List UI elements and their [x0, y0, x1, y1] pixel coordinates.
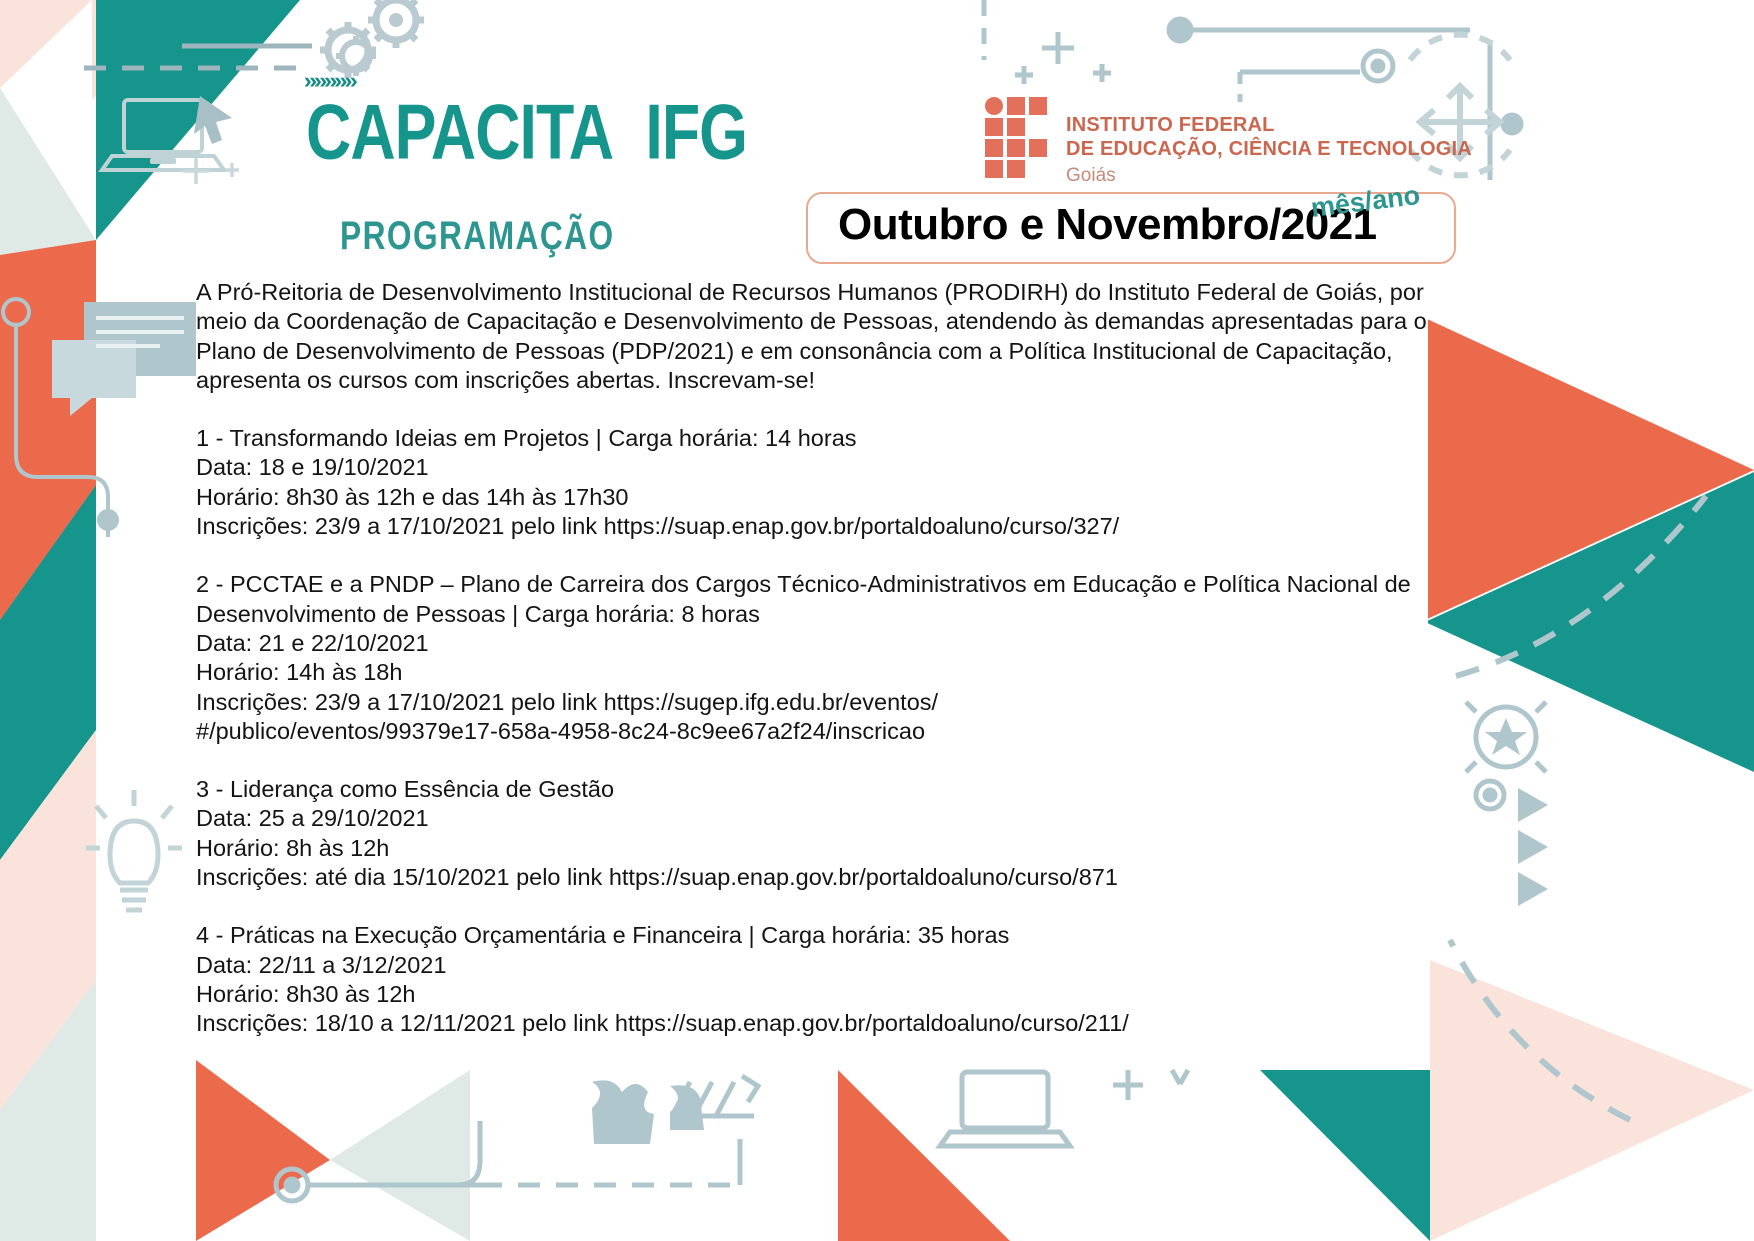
bottom-triangle-pattern — [196, 1060, 1600, 1241]
ifg-institutional-logo: INSTITUTO FEDERAL DE EDUCAÇÃO, CIÊNCIA E… — [985, 97, 1425, 187]
course-item: 3 - Liderança como Essência de Gestão Da… — [196, 775, 1442, 892]
period-value: Outubro e Novembro/2021 — [838, 200, 1377, 250]
course-registration[interactable]: Inscrições: 23/9 a 17/10/2021 pelo link … — [196, 512, 1442, 541]
capacita-logo: »»»»» CAPACITAIFG — [306, 90, 770, 160]
course-date: Data: 25 a 29/10/2021 — [196, 804, 1442, 833]
brand-title: CAPACITAIFG — [306, 90, 747, 173]
play-arrow-icons — [1518, 788, 1548, 906]
brand-title-sub: IFG — [645, 88, 747, 175]
course-date: Data: 21 e 22/10/2021 — [196, 629, 1442, 658]
course-registration[interactable]: Inscrições: até dia 15/10/2021 pelo link… — [196, 863, 1442, 892]
course-title: 2 - PCCTAE e a PNDP – Plano de Carreira … — [196, 570, 1442, 629]
course-item: 1 - Transformando Ideias em Projetos | C… — [196, 424, 1442, 541]
ifg-line-2: DE EDUCAÇÃO, CIÊNCIA E TECNOLOGIA — [1066, 137, 1472, 161]
node-connector-left — [3, 299, 117, 537]
puzzle-icon — [592, 1080, 704, 1144]
course-time: Horário: 14h às 18h — [196, 658, 1442, 687]
ifg-logo-text: INSTITUTO FEDERAL DE EDUCAÇÃO, CIÊNCIA E… — [1066, 113, 1472, 187]
intro-paragraph: A Pró-Reitoria de Desenvolvimento Instit… — [196, 278, 1442, 395]
course-time: Horário: 8h às 12h — [196, 834, 1442, 863]
target-icon — [1476, 781, 1504, 809]
poster-header: »»»»» CAPACITAIFG PROGRAMAÇÃO INSTITUT — [0, 0, 1754, 270]
course-date: Data: 22/11 a 3/12/2021 — [196, 951, 1442, 980]
right-triangle-pattern — [1425, 318, 1754, 1241]
section-label: PROGRAMAÇÃO — [340, 213, 615, 259]
dashed-arc-right — [1450, 496, 1706, 1120]
bottom-circuit-icons — [276, 1121, 740, 1201]
chart-arrow-icon — [672, 1076, 758, 1116]
course-item: 4 - Práticas na Execução Orçamentária e … — [196, 921, 1442, 1038]
plus-bottom-icons — [1113, 1070, 1188, 1100]
intro-block: A Pró-Reitoria de Desenvolvimento Instit… — [196, 278, 1442, 395]
poster-canvas: »»»»» CAPACITAIFG PROGRAMAÇÃO INSTITUT — [0, 0, 1754, 1241]
poster-body: A Pró-Reitoria de Desenvolvimento Instit… — [196, 278, 1442, 1039]
lightbulb-icon — [86, 790, 182, 910]
course-item: 2 - PCCTAE e a PNDP – Plano de Carreira … — [196, 570, 1442, 746]
tablet-icon — [940, 1072, 1070, 1146]
chat-bubbles-icon — [52, 302, 196, 416]
star-badge-icon — [1466, 702, 1546, 772]
course-registration[interactable]: Inscrições: 18/10 a 12/11/2021 pelo link… — [196, 1009, 1442, 1038]
ifg-line-1: INSTITUTO FEDERAL — [1066, 113, 1472, 137]
course-title: 1 - Transformando Ideias em Projetos | C… — [196, 424, 1442, 453]
ifg-grid-mark-icon — [985, 97, 1053, 177]
course-title: 4 - Práticas na Execução Orçamentária e … — [196, 921, 1442, 950]
course-title: 3 - Liderança como Essência de Gestão — [196, 775, 1442, 804]
brand-title-main: CAPACITA — [306, 88, 613, 175]
course-time: Horário: 8h30 às 12h — [196, 980, 1442, 1009]
course-date: Data: 18 e 19/10/2021 — [196, 453, 1442, 482]
course-registration[interactable]: Inscrições: 23/9 a 17/10/2021 pelo link … — [196, 688, 1442, 747]
course-time: Horário: 8h30 às 12h e das 14h às 17h30 — [196, 483, 1442, 512]
